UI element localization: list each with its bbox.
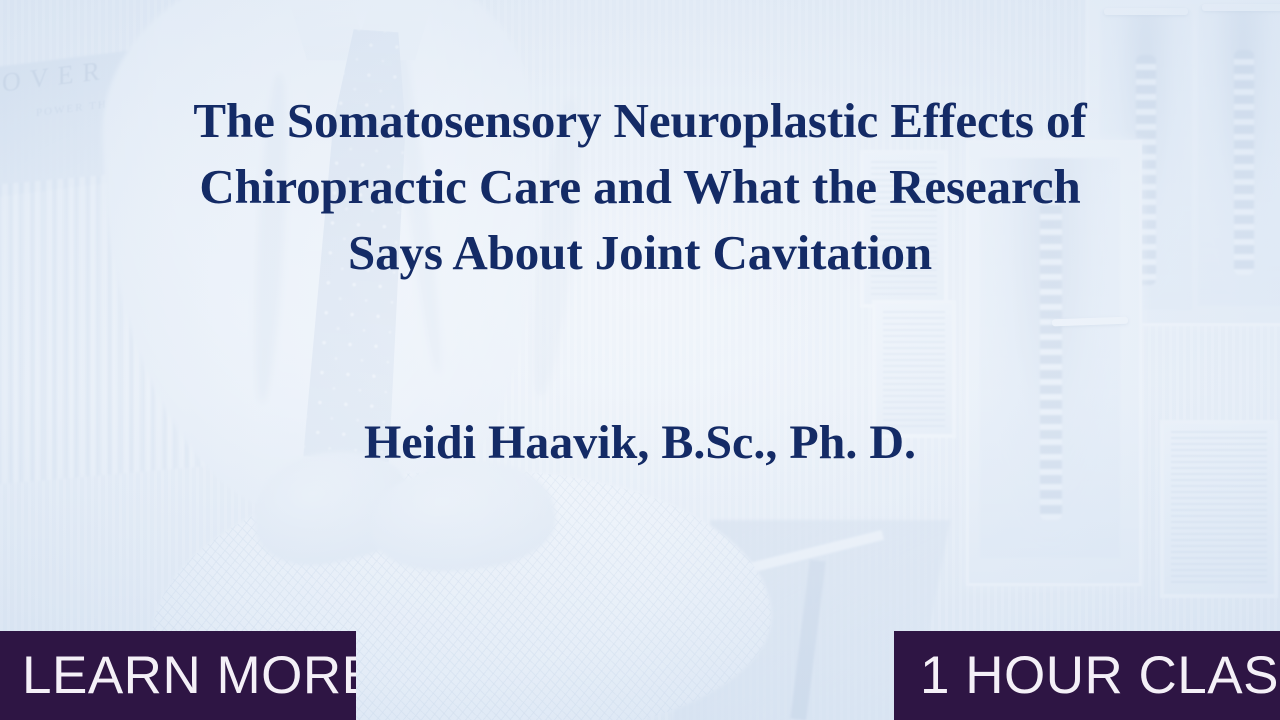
learn-more-button[interactable]: LEARN MORE xyxy=(0,631,356,720)
page-title-line-1: The Somatosensory Neuroplastic Effects o… xyxy=(8,88,1272,154)
learn-more-label: LEARN MORE xyxy=(22,649,356,702)
page-title-line-2: Chiropractic Care and What the Research xyxy=(8,154,1272,220)
class-duration-label: 1 HOUR CLASS xyxy=(920,649,1280,702)
title-slide: OVER POWER THE MIRACLE The Somatosensory… xyxy=(0,0,1280,720)
page-title: The Somatosensory Neuroplastic Effects o… xyxy=(0,88,1280,286)
speaker-name: Heidi Haavik, B.Sc., Ph. D. xyxy=(0,414,1280,472)
class-duration-badge: 1 HOUR CLASS xyxy=(894,631,1280,720)
page-title-line-3: Says About Joint Cavitation xyxy=(8,220,1272,286)
